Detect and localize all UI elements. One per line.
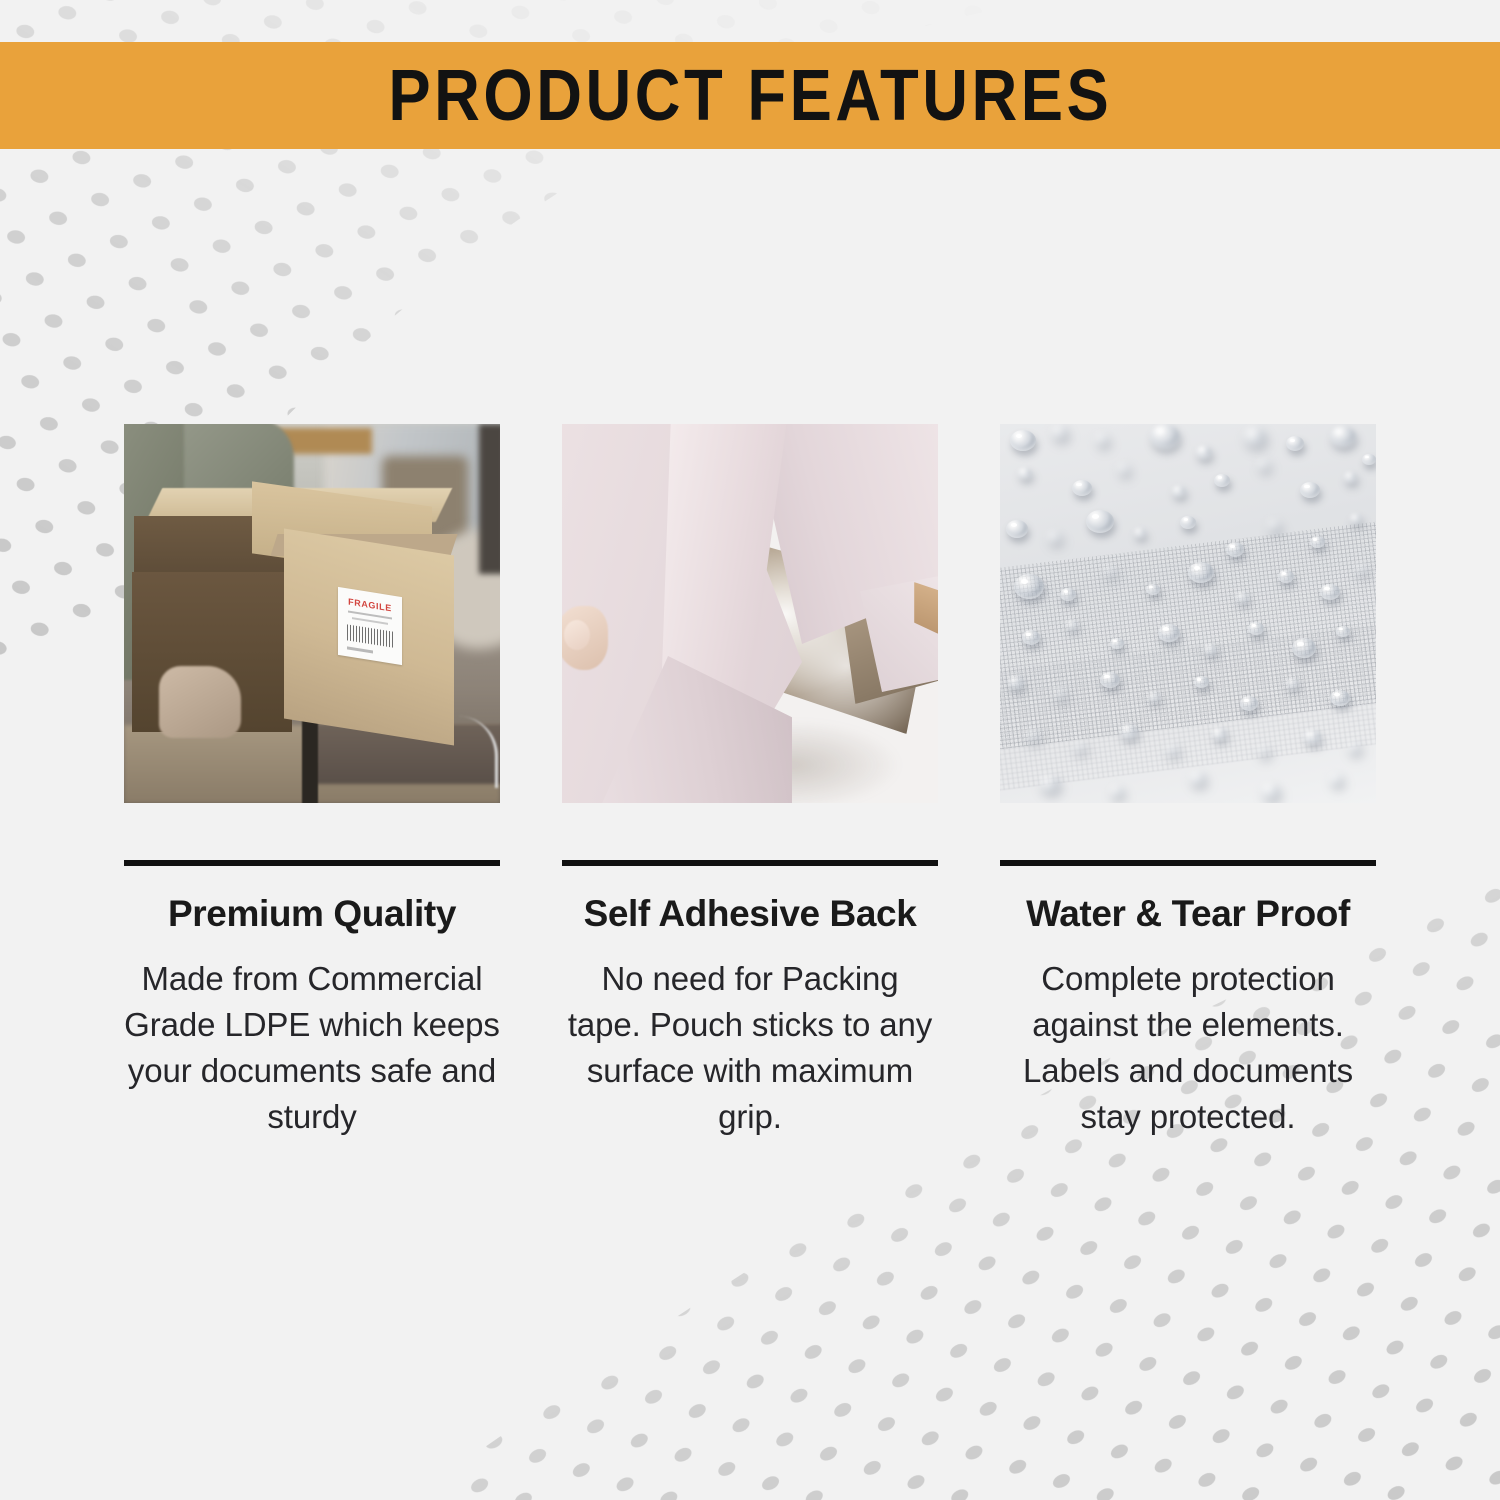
water-droplet-icon xyxy=(1336,626,1350,637)
feature-columns: FRAGILE Premium Quality Made from Commer… xyxy=(124,424,1376,1140)
water-droplet-icon xyxy=(1292,638,1316,658)
water-droplet-icon xyxy=(1286,678,1299,689)
page-title: PRODUCT FEATURES xyxy=(388,60,1112,132)
water-droplet-icon xyxy=(1048,532,1062,543)
water-droplet-icon xyxy=(1118,464,1130,474)
water-droplet-icon xyxy=(1158,624,1180,642)
feature-image-water-tear-proof xyxy=(1000,424,1376,803)
water-droplet-icon xyxy=(1060,588,1076,601)
fragile-label: FRAGILE xyxy=(338,587,402,665)
water-droplet-icon xyxy=(1350,514,1362,524)
feature-heading-water-tear-proof: Water & Tear Proof xyxy=(1000,893,1376,935)
product-features-banner: PRODUCT FEATURES xyxy=(0,42,1500,149)
water-droplet-icon xyxy=(1074,742,1086,752)
water-droplet-icon xyxy=(1258,746,1270,756)
water-droplet-icon xyxy=(1214,474,1230,487)
water-droplet-icon xyxy=(1204,644,1217,655)
feature-heading-premium-quality: Premium Quality xyxy=(124,893,500,935)
water-droplet-icon xyxy=(1310,536,1325,548)
water-droplet-icon xyxy=(1330,426,1356,447)
feature-heading-self-adhesive-back: Self Adhesive Back xyxy=(562,893,938,935)
water-droplet-icon xyxy=(1278,570,1294,583)
feature-body-self-adhesive-back: No need for Packing tape. Pouch sticks t… xyxy=(562,956,938,1140)
feature-divider-rule xyxy=(124,860,500,866)
water-droplet-icon xyxy=(1344,472,1357,483)
water-droplet-icon xyxy=(1120,724,1138,739)
water-droplet-icon xyxy=(1268,520,1281,531)
feature-image-premium-quality: FRAGILE xyxy=(124,424,500,803)
water-droplet-icon xyxy=(1362,454,1376,465)
water-droplet-icon xyxy=(1096,434,1109,445)
water-droplet-icon xyxy=(1146,584,1160,595)
feature-card-water-tear-proof: Water & Tear Proof Complete protection a… xyxy=(1000,424,1376,1140)
water-droplet-icon xyxy=(1196,446,1212,459)
water-droplet-icon xyxy=(1330,774,1343,785)
feature-body-water-tear-proof: Complete protection against the elements… xyxy=(1000,956,1376,1140)
feature-card-self-adhesive-back: Self Adhesive Back No need for Packing t… xyxy=(562,424,938,1140)
water-droplet-icon xyxy=(1212,728,1227,740)
water-droplet-icon xyxy=(1330,690,1350,706)
water-droplet-icon xyxy=(1110,638,1124,649)
feature-divider-rule xyxy=(562,860,938,866)
water-droplet-icon xyxy=(1236,592,1249,603)
water-droplet-icon xyxy=(1172,486,1186,497)
water-droplet-icon xyxy=(1356,564,1368,574)
water-droplet-icon xyxy=(1148,692,1160,702)
water-droplet-icon xyxy=(1300,482,1320,498)
water-droplet-icon xyxy=(1022,630,1040,645)
water-droplet-icon xyxy=(1086,510,1114,533)
water-droplet-icon xyxy=(1166,744,1179,755)
water-droplet-icon xyxy=(1150,424,1180,449)
water-droplet-icon xyxy=(1010,430,1036,451)
water-droplet-icon xyxy=(1262,784,1280,799)
water-droplet-icon xyxy=(1180,516,1196,529)
water-droplet-icon xyxy=(1348,742,1361,753)
water-droplet-icon xyxy=(1188,562,1214,583)
water-droplet-icon xyxy=(1244,428,1266,446)
water-droplet-icon xyxy=(1052,426,1068,439)
water-droplet-icon xyxy=(1240,696,1258,711)
water-droplet-icon xyxy=(1134,528,1146,538)
water-droplet-icon xyxy=(1018,468,1032,479)
barcode-icon xyxy=(347,624,393,647)
water-droplet-icon xyxy=(1008,676,1024,689)
water-droplet-icon xyxy=(1304,730,1321,744)
water-droplet-icon xyxy=(1100,672,1120,688)
water-droplet-icon xyxy=(1190,772,1206,785)
water-droplet-icon xyxy=(1226,542,1244,557)
water-droplet-icon xyxy=(1014,574,1044,599)
water-droplet-icon xyxy=(1072,480,1092,496)
feature-body-premium-quality: Made from Commercial Grade LDPE which ke… xyxy=(124,956,500,1140)
water-droplet-icon xyxy=(1006,520,1028,538)
water-droplet-icon xyxy=(1248,622,1264,635)
feature-card-premium-quality: FRAGILE Premium Quality Made from Commer… xyxy=(124,424,500,1140)
water-droplet-icon xyxy=(1054,688,1067,699)
water-droplet-icon xyxy=(1286,436,1304,451)
feature-image-self-adhesive-back xyxy=(562,424,938,803)
water-droplet-icon xyxy=(1320,584,1340,600)
water-droplet-icon xyxy=(1258,460,1270,470)
water-droplet-icon xyxy=(1026,730,1040,741)
water-droplet-icon xyxy=(1194,676,1209,688)
water-droplet-icon xyxy=(1104,566,1116,576)
feature-divider-rule xyxy=(1000,860,1376,866)
water-droplet-icon xyxy=(1040,776,1060,792)
water-droplet-icon xyxy=(1066,620,1078,630)
water-droplet-icon xyxy=(1110,786,1124,797)
product-features-page: PRODUCT FEATURES xyxy=(0,0,1500,1500)
